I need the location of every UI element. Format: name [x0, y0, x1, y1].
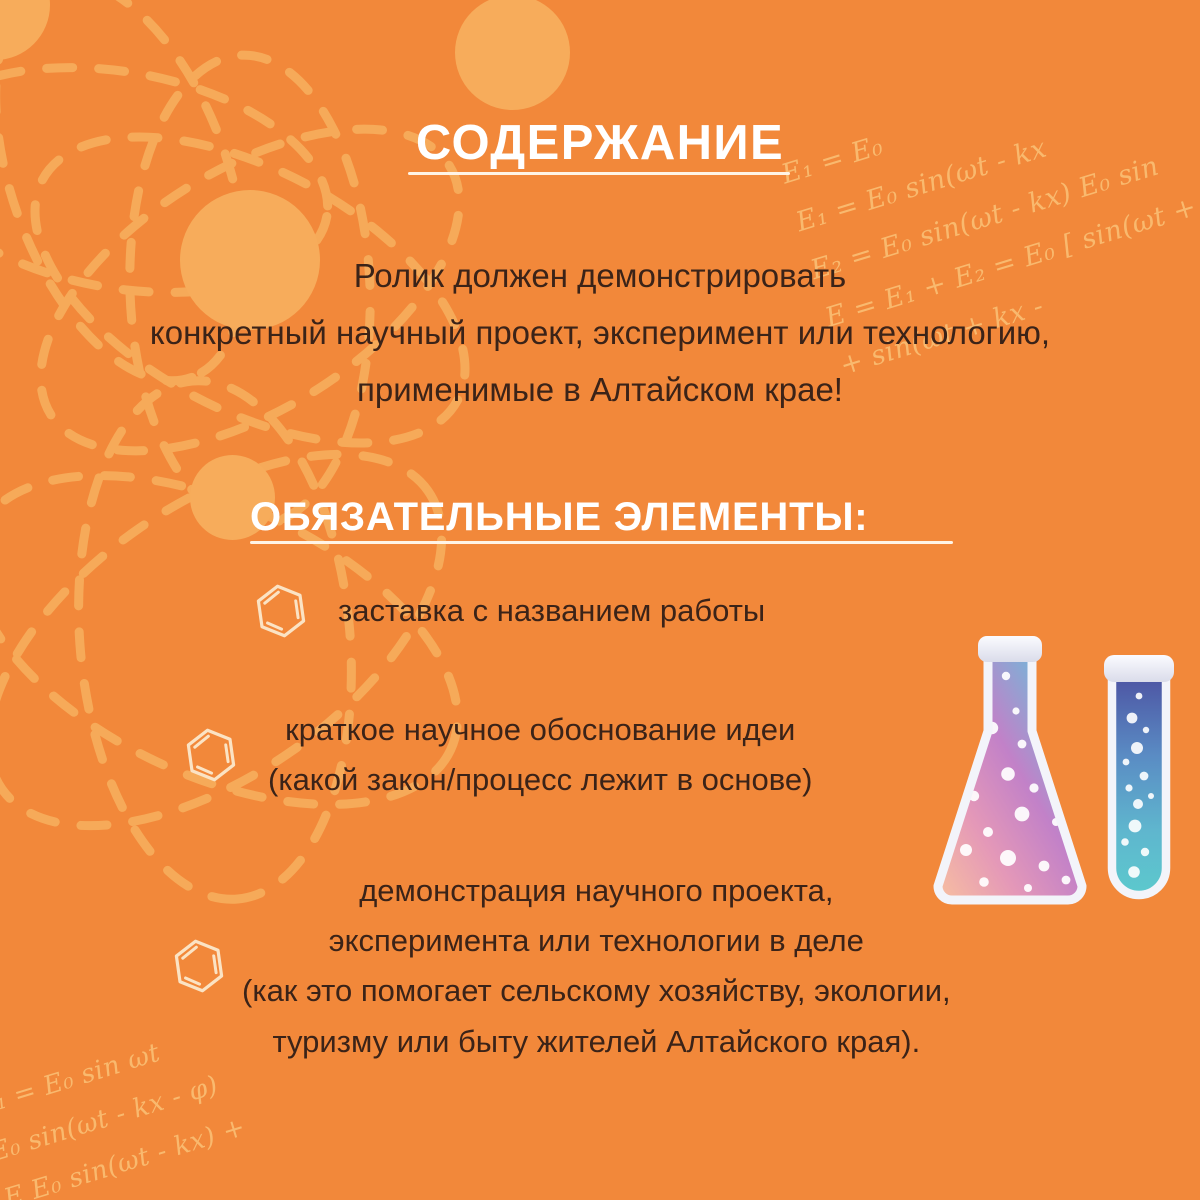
page-title-underline — [408, 172, 790, 175]
intro-paragraph: Ролик должен демонстрировать конкретный … — [0, 248, 1200, 418]
list-item: демонстрация научного проекта, экспериме… — [170, 866, 951, 1067]
intro-line: применимые в Алтайском крае! — [0, 362, 1200, 419]
list-item: краткое научное обоснование идеи (какой … — [182, 705, 812, 805]
list-item-line: краткое научное обоснование идеи — [268, 705, 812, 755]
hexagon-benzene-icon — [170, 935, 228, 997]
list-item-text: заставка с названием работы — [338, 586, 765, 636]
erlenmeyer-flask-icon — [938, 636, 1082, 900]
hexagon-benzene-icon — [252, 580, 310, 642]
list-item-line: эксперимента или технологии в деле — [242, 916, 951, 966]
intro-line: конкретный научный проект, эксперимент и… — [0, 305, 1200, 362]
intro-line: Ролик должен демонстрировать — [0, 248, 1200, 305]
flask-cap-icon — [978, 636, 1042, 662]
section-heading-underline — [250, 541, 953, 544]
circle-dot-icon — [0, 0, 50, 60]
list-item-line: заставка с названием работы — [338, 586, 765, 636]
hexagon-benzene-icon — [182, 724, 240, 786]
list-item-text: краткое научное обоснование идеи (какой … — [268, 705, 812, 805]
slide-root: E₁ = E₀ E₁ = E₀ sin(ωt - kx E₂ = E₀ sin(… — [0, 0, 1200, 1200]
list-item-line: (какой закон/процесс лежит в основе) — [268, 755, 812, 805]
list-item-line: туризму или быту жителей Алтайского края… — [242, 1017, 951, 1067]
list-item-line: (как это помогает сельскому хозяйству, э… — [242, 966, 951, 1016]
list-item-line: демонстрация научного проекта, — [242, 866, 951, 916]
list-item: заставка с названием работы — [252, 580, 765, 642]
list-item-text: демонстрация научного проекта, экспериме… — [242, 866, 951, 1067]
circle-dot-icon — [455, 0, 570, 110]
test-tube-icon — [1104, 655, 1174, 895]
tube-cap-icon — [1104, 655, 1174, 682]
section-heading: ОБЯЗАТЕЛЬНЫЕ ЭЛЕМЕНТЫ: — [250, 495, 868, 540]
lab-glassware-illustration — [930, 636, 1180, 911]
page-title: СОДЕРЖАНИЕ — [0, 115, 1200, 171]
